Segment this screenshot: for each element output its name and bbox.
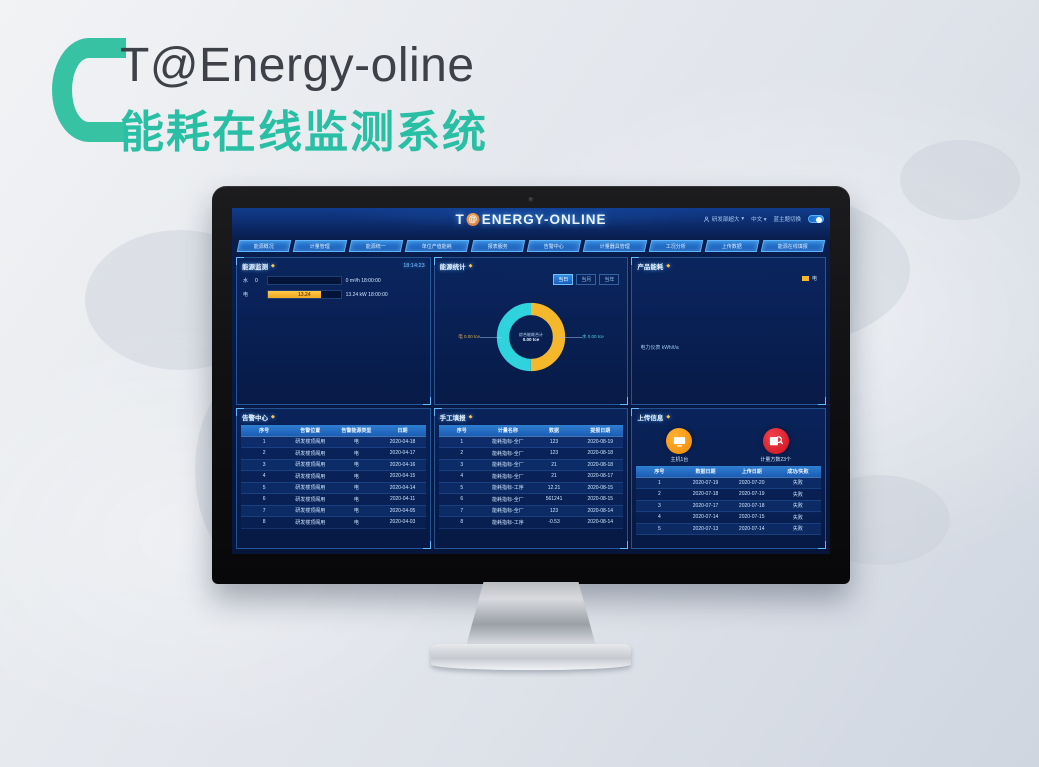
nav-item-8[interactable]: 上传数据 — [705, 240, 760, 252]
column-header: 数据 — [531, 425, 577, 436]
table-row[interactable]: 4能耗指标-全厂212020-08-17 — [439, 471, 624, 483]
table-cell: 5 — [241, 482, 287, 494]
table-cell: 7 — [439, 505, 485, 517]
table-cell: 2020-08-18 — [577, 459, 623, 471]
leader-line-right — [560, 337, 582, 338]
table-cell: 研发楼顶阁用 — [287, 505, 333, 517]
donut-legend-right: 水 0.00 tce — [582, 334, 604, 340]
table-cell: 2 — [636, 489, 682, 501]
donut-center-line2: 0.00 tce — [523, 337, 540, 343]
table-cell: 失败 — [775, 500, 821, 512]
table-cell: 2 — [241, 448, 287, 460]
language-selector[interactable]: 中文 ▾ — [751, 215, 766, 223]
table-cell: 561241 — [531, 494, 577, 506]
progress-bar-electric: 13.24 — [267, 290, 342, 299]
app-title: T@ENERGY-ONLINE — [455, 212, 606, 227]
table-cell: 2 — [439, 448, 485, 460]
panel-title: 能源监测 — [242, 261, 268, 271]
table-cell: 8 — [241, 517, 287, 529]
table-cell: 4 — [636, 512, 682, 524]
panel-header: 告警中心 ◆ — [237, 409, 430, 424]
upload-table: 序号数据日期上传日期成功/失败 12020-07-192020-07-20失败2… — [636, 466, 821, 535]
nav-item-2[interactable]: 能源统一 — [349, 240, 404, 252]
row-meta: 0 m³/h 18:00:00 — [346, 278, 424, 284]
table-cell: 2020-07-15 — [729, 512, 775, 524]
app-title-right: ENERGY-ONLINE — [482, 212, 607, 227]
monitor-screen: T@ENERGY-ONLINE 研发部超大 ▾ 中文 ▾ 蓝主题切换 — [232, 208, 830, 554]
nav-item-3[interactable]: 单位产值能耗 — [405, 240, 470, 252]
header-actions: 研发部超大 ▾ 中文 ▾ 蓝主题切换 — [703, 215, 824, 223]
table-cell: -0.53 — [531, 517, 577, 529]
table-row[interactable]: 4研发楼顶阁用电2020-04-15 — [241, 471, 426, 483]
column-header: 告警位置 — [287, 425, 333, 436]
table-row[interactable]: 1能耗指标-全厂1232020-08-19 — [439, 436, 624, 448]
nav-item-4[interactable]: 报表服务 — [471, 240, 526, 252]
table-row[interactable]: 5研发楼顶阁用电2020-04-14 — [241, 482, 426, 494]
table-head: 序号计量名称数据提报日期 — [439, 425, 624, 436]
progress-value-text: 13.24 — [268, 291, 341, 298]
table-cell: 能耗指标-全厂 — [485, 448, 531, 460]
table-cell: 能耗指标-工序 — [485, 517, 531, 529]
table-row[interactable]: 1研发楼顶阁用电2020-04-18 — [241, 436, 426, 448]
theme-switch-label: 蓝主题切换 — [773, 215, 801, 223]
brand-title-english: T@Energy-oline — [120, 38, 475, 93]
table-row[interactable]: 7能耗指标-全厂1232020-08-14 — [439, 505, 624, 517]
webcam-icon — [529, 197, 534, 202]
chart-legend: 电 — [802, 275, 817, 282]
main-nav: 能源概况 计量管理 能源统一 单位产值能耗 报表服务 告警中心 计量器具管理 工… — [232, 238, 830, 255]
panel-title: 告警中心 — [242, 412, 268, 422]
table-cell: 2020-08-17 — [577, 471, 623, 483]
panel-alarm-center: 告警中心 ◆ 序号告警位置告警能源类型日期 1研发楼顶阁用电2020-04-18… — [236, 408, 431, 549]
stat-host: 主机1台 — [666, 428, 692, 463]
table-row[interactable]: 5能耗指标-工序12.212020-08-15 — [439, 482, 624, 494]
table-scroll[interactable]: 序号数据日期上传日期成功/失败 12020-07-192020-07-20失败2… — [632, 465, 825, 535]
table-cell: 研发楼顶阁用 — [287, 517, 333, 529]
energy-row-water: 水 0 0 m³/h 18:00:00 — [243, 276, 424, 285]
table-row[interactable]: 3研发楼顶阁用电2020-04-16 — [241, 459, 426, 471]
table-cell: 21 — [531, 471, 577, 483]
chevron-down-icon: ▾ — [741, 216, 744, 222]
table-cell: 123 — [531, 436, 577, 448]
table-row[interactable]: 8研发楼顶阁用电2020-04-03 — [241, 517, 426, 529]
table-scroll[interactable]: 序号告警位置告警能源类型日期 1研发楼顶阁用电2020-04-182研发楼顶阁用… — [237, 424, 430, 547]
panel-energy-statistics: 能源统计 ◆ 当日 当月 当年 — [434, 257, 629, 405]
table-cell: 6 — [241, 494, 287, 506]
table-cell: 2020-04-16 — [379, 459, 425, 471]
donut-chart-wrap: 综合能耗合计 0.00 tce 电 0.00 tce 水 0.00 tce — [435, 273, 628, 401]
table-cell: 2020-07-18 — [682, 489, 728, 501]
table-cell: 2020-04-14 — [379, 482, 425, 494]
table-cell: 失败 — [775, 512, 821, 524]
panel-header: 能源统计 ◆ — [435, 258, 628, 273]
table-row[interactable]: 6能耗指标-全厂5612412020-08-15 — [439, 494, 624, 506]
legend-label: 电 — [812, 275, 817, 282]
table-cell: 8 — [439, 517, 485, 529]
table-header-row: 序号告警位置告警能源类型日期 — [241, 425, 426, 436]
bullet-icon: ◆ — [469, 414, 473, 420]
server-icon — [666, 428, 692, 454]
table-cell: 2020-07-20 — [729, 477, 775, 489]
table-cell: 1 — [636, 477, 682, 489]
table-cell: 能耗指标-全厂 — [485, 494, 531, 506]
column-header: 提报日期 — [577, 425, 623, 436]
stat-meters-label: 计量方数23个 — [760, 456, 791, 463]
table-cell: 2020-04-18 — [379, 436, 425, 448]
monitor-stand-base — [431, 644, 631, 670]
table-cell: 2020-04-03 — [379, 517, 425, 529]
table-cell: 研发楼顶阁用 — [287, 448, 333, 460]
table-cell: 电 — [333, 505, 379, 517]
table-cell: 电 — [333, 436, 379, 448]
monitor-bezel: T@ENERGY-ONLINE 研发部超大 ▾ 中文 ▾ 蓝主题切换 — [212, 186, 850, 584]
table-cell: 研发楼顶阁用 — [287, 471, 333, 483]
table-cell: 4 — [241, 471, 287, 483]
bullet-icon: ◆ — [666, 263, 670, 269]
alarm-table: 序号告警位置告警能源类型日期 1研发楼顶阁用电2020-04-182研发楼顶阁用… — [241, 425, 426, 529]
nav-item-0[interactable]: 能源概况 — [237, 240, 292, 252]
table-header-row: 序号数据日期上传日期成功/失败 — [636, 466, 821, 477]
table-cell: 2020-07-14 — [682, 512, 728, 524]
panel-energy-monitor: 能源监测 ◆ 18:14:23 水 0 0 m³/h 18 — [236, 257, 431, 405]
brand-title-chinese: 能耗在线监测系统 — [120, 96, 488, 160]
table-cell: 能耗指标-全厂 — [485, 471, 531, 483]
nav-item-7[interactable]: 工况分析 — [649, 240, 704, 252]
column-header: 上传日期 — [729, 466, 775, 477]
table-cell: 2020-08-19 — [577, 436, 623, 448]
table-row[interactable]: 6研发楼顶阁用电2020-04-11 — [241, 494, 426, 506]
table-cell: 5 — [439, 482, 485, 494]
table-cell: 电 — [333, 459, 379, 471]
row-label: 电 — [243, 291, 251, 298]
energy-row-electric: 电 13.24 13.24 kW 18:00:00 — [243, 290, 424, 299]
table-header-row: 序号计量名称数据提报日期 — [439, 425, 624, 436]
user-icon — [703, 216, 710, 223]
table-cell: 3 — [636, 500, 682, 512]
table-head: 序号数据日期上传日期成功/失败 — [636, 466, 821, 477]
table-cell: 2020-07-17 — [682, 500, 728, 512]
bullet-icon: ◆ — [271, 414, 275, 420]
table-cell: 2020-08-14 — [577, 505, 623, 517]
table-cell: 失败 — [775, 489, 821, 501]
table-cell: 失败 — [775, 523, 821, 535]
table-cell: 21 — [531, 459, 577, 471]
table-cell: 研发楼顶阁用 — [287, 482, 333, 494]
table-cell: 2020-08-15 — [577, 482, 623, 494]
table-cell: 3 — [439, 459, 485, 471]
table-cell: 2020-07-14 — [729, 523, 775, 535]
table-cell: 失败 — [775, 477, 821, 489]
column-header: 日期 — [379, 425, 425, 436]
column-header: 序号 — [636, 466, 682, 477]
table-cell: 电 — [333, 471, 379, 483]
table-body: 1研发楼顶阁用电2020-04-182研发楼顶阁用电2020-04-173研发楼… — [241, 436, 426, 528]
panel-header: 能源监测 ◆ 18:14:23 — [237, 258, 430, 273]
table-cell: 能耗指标-全厂 — [485, 505, 531, 517]
app-title-left: T — [455, 212, 464, 227]
energy-rows: 水 0 0 m³/h 18:00:00 电 — [237, 273, 430, 307]
table-cell: 4 — [439, 471, 485, 483]
dashboard-app: T@ENERGY-ONLINE 研发部超大 ▾ 中文 ▾ 蓝主题切换 — [232, 208, 830, 554]
table-cell: 2020-08-15 — [577, 494, 623, 506]
table-row[interactable]: 22020-07-182020-07-19失败 — [636, 489, 821, 501]
table-cell: 2020-04-11 — [379, 494, 425, 506]
column-header: 数据日期 — [682, 466, 728, 477]
table-cell: 2020-04-15 — [379, 471, 425, 483]
table-cell: 2020-07-19 — [729, 489, 775, 501]
column-header: 序号 — [241, 425, 287, 436]
table-cell: 2020-04-17 — [379, 448, 425, 460]
panel-manual-entry: 手工填报 ◆ 序号计量名称数据提报日期 1能耗指标-全厂1232020-08-1… — [434, 408, 629, 549]
nav-item-5[interactable]: 告警中心 — [527, 240, 582, 252]
table-cell: 7 — [241, 505, 287, 517]
stat-meters: 计量方数23个 — [760, 428, 791, 463]
user-menu[interactable]: 研发部超大 ▾ — [703, 215, 744, 223]
table-cell: 2020-07-13 — [682, 523, 728, 535]
upload-stats: 主机1台 计量方数23个 — [632, 424, 825, 465]
donut-center-label: 综合能耗合计 0.00 tce — [494, 300, 568, 374]
logo-icon — [52, 38, 126, 142]
column-header: 成功/失败 — [775, 466, 821, 477]
table-row[interactable]: 32020-07-172020-07-18失败 — [636, 500, 821, 512]
table-cell: 2020-08-18 — [577, 448, 623, 460]
column-header: 序号 — [439, 425, 485, 436]
panel-title: 能源统计 — [440, 261, 466, 271]
leader-line-left — [480, 337, 502, 338]
app-header: T@ENERGY-ONLINE 研发部超大 ▾ 中文 ▾ 蓝主题切换 — [232, 208, 830, 238]
server-glyph-icon — [672, 434, 687, 449]
table-row[interactable]: 7研发楼顶阁用电2020-04-05 — [241, 505, 426, 517]
table-cell: 2020-04-05 — [379, 505, 425, 517]
at-logo-icon: @ — [467, 213, 480, 226]
monitor-stand-neck — [465, 582, 597, 650]
table-cell: 研发楼顶阁用 — [287, 494, 333, 506]
table-cell: 1 — [439, 436, 485, 448]
panel-header: 手工填报 ◆ — [435, 409, 628, 424]
nav-item-1[interactable]: 计量管理 — [293, 240, 348, 252]
table-cell: 6 — [439, 494, 485, 506]
stat-host-label: 主机1台 — [666, 456, 692, 463]
table-cell: 电 — [333, 482, 379, 494]
brand-header: T@Energy-oline 能耗在线监测系统 — [52, 22, 612, 152]
document-search-icon — [763, 428, 789, 454]
panel-header: 产品能耗 ◆ — [632, 258, 825, 273]
table-cell: 能耗指标-工序 — [485, 482, 531, 494]
table-cell: 123 — [531, 505, 577, 517]
table-cell: 电 — [333, 494, 379, 506]
column-header: 计量名称 — [485, 425, 531, 436]
table-cell: 电 — [333, 448, 379, 460]
theme-toggle-switch[interactable] — [808, 215, 824, 223]
table-cell: 研发楼顶阁用 — [287, 436, 333, 448]
bullet-icon: ◆ — [271, 263, 275, 269]
dashboard-grid: 能源监测 ◆ 18:14:23 水 0 0 m³/h 18 — [232, 255, 830, 553]
panel-upload-info: 上传信息 ◆ 主机1台 — [631, 408, 826, 549]
document-search-glyph-icon — [768, 434, 783, 449]
table-row[interactable]: 8能耗指标-工序-0.532020-08-14 — [439, 517, 624, 529]
row-meta: 13.24 kW 18:00:00 — [346, 292, 424, 298]
row-value: 0 — [255, 278, 263, 284]
table-cell: 能耗指标-全厂 — [485, 436, 531, 448]
monitor-mockup: T@ENERGY-ONLINE 研发部超大 ▾ 中文 ▾ 蓝主题切换 — [212, 186, 850, 584]
table-head: 序号告警位置告警能源类型日期 — [241, 425, 426, 436]
table-cell: 1 — [241, 436, 287, 448]
bullet-icon: ◆ — [469, 263, 473, 269]
table-row[interactable]: 2能耗指标-全厂1232020-08-18 — [439, 448, 624, 460]
nav-item-9[interactable]: 能源在线填报 — [761, 240, 826, 252]
panel-title: 手工填报 — [440, 412, 466, 422]
panel-product-energy: 产品能耗 ◆ 电 电力仪表 kWh/t/a — [631, 257, 826, 405]
table-cell: 123 — [531, 448, 577, 460]
table-row[interactable]: 3能耗指标-全厂212020-08-18 — [439, 459, 624, 471]
table-cell: 电 — [333, 517, 379, 529]
donut-chart: 综合能耗合计 0.00 tce 电 0.00 tce 水 0.00 tce — [494, 300, 568, 374]
table-row[interactable]: 42020-07-142020-07-15失败 — [636, 512, 821, 524]
clock-text: 18:14:23 — [403, 263, 424, 269]
donut-legend-left: 电 0.00 tce — [458, 334, 480, 340]
table-cell: 能耗指标-全厂 — [485, 459, 531, 471]
table-cell: 研发楼顶阁用 — [287, 459, 333, 471]
row-label: 水 — [243, 277, 251, 284]
table-cell: 2020-08-14 — [577, 517, 623, 529]
table-body: 1能耗指标-全厂1232020-08-192能耗指标-全厂1232020-08-… — [439, 436, 624, 528]
bullet-icon: ◆ — [666, 414, 670, 420]
panel-header: 上传信息 ◆ — [632, 409, 825, 424]
table-cell: 2020-07-19 — [682, 477, 728, 489]
table-row[interactable]: 12020-07-192020-07-20失败 — [636, 477, 821, 489]
table-cell: 12.21 — [531, 482, 577, 494]
column-header: 告警能源类型 — [333, 425, 379, 436]
panel-title: 上传信息 — [637, 412, 663, 422]
panel-title: 产品能耗 — [637, 261, 663, 271]
table-scroll[interactable]: 序号计量名称数据提报日期 1能耗指标-全厂1232020-08-192能耗指标-… — [435, 424, 628, 547]
legend-swatch-icon — [802, 276, 809, 281]
table-row[interactable]: 2研发楼顶阁用电2020-04-17 — [241, 448, 426, 460]
axis-label: 电力仪表 kWh/t/a — [640, 344, 678, 351]
nav-item-6[interactable]: 计量器具管理 — [583, 240, 648, 252]
table-cell: 2020-07-18 — [729, 500, 775, 512]
table-cell: 3 — [241, 459, 287, 471]
manual-entry-table: 序号计量名称数据提报日期 1能耗指标-全厂1232020-08-192能耗指标-… — [439, 425, 624, 529]
table-cell: 5 — [636, 523, 682, 535]
progress-bar-water — [267, 276, 342, 285]
table-row[interactable]: 52020-07-132020-07-14失败 — [636, 523, 821, 535]
table-body: 12020-07-192020-07-20失败22020-07-182020-0… — [636, 477, 821, 535]
user-name: 研发部超大 — [712, 215, 740, 223]
